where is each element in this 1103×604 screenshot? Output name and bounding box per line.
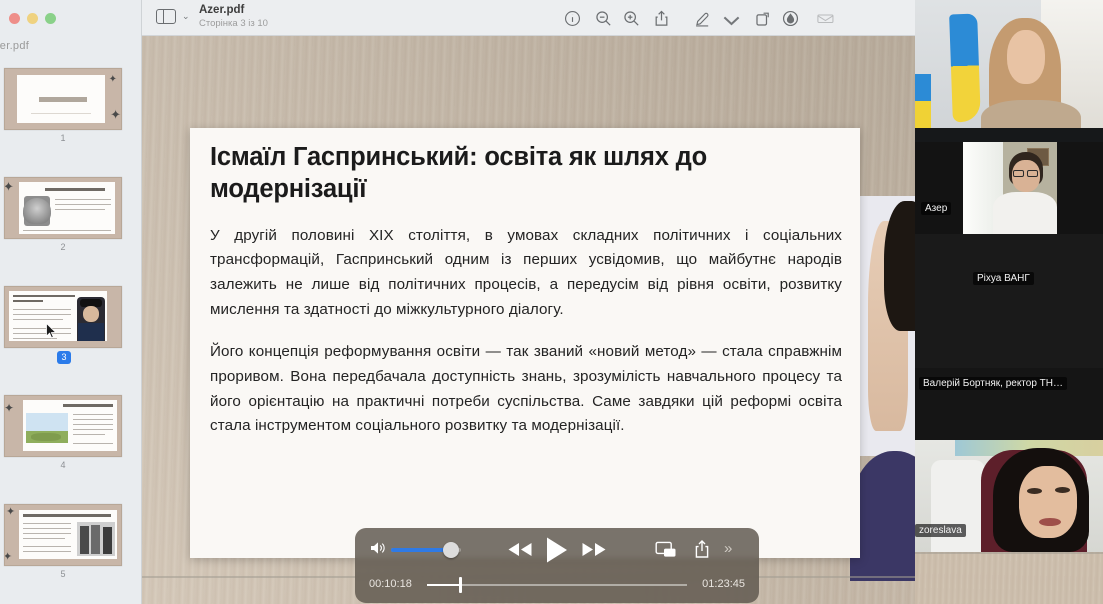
mouse-cursor-icon [46, 323, 57, 339]
picture-in-picture-icon[interactable] [655, 540, 677, 564]
participant-video-rail: Азер Ріхуа ВАНГ Валерій Бортняк, ректор … [915, 0, 1103, 604]
current-time: 00:10:18 [369, 578, 412, 590]
sidebar-filename: zer.pdf [0, 40, 142, 52]
rotate-icon[interactable] [753, 9, 772, 28]
sidebar-thumbnail-2[interactable]: ✦ 2 [4, 177, 124, 252]
fast-forward-icon[interactable] [581, 542, 607, 562]
scrubber-knob[interactable] [459, 577, 462, 593]
sidebar-thumbnail-1[interactable]: ✦ ✦ 1 [4, 68, 124, 143]
highlight-icon[interactable] [781, 9, 800, 28]
zoom-in-icon[interactable] [622, 9, 641, 28]
ukraine-flag [949, 14, 981, 123]
markup-icon[interactable] [693, 9, 715, 28]
speaker-icon[interactable] [371, 541, 387, 558]
thumbnail-image-4[interactable]: ✦ [4, 395, 122, 457]
scrubber-track[interactable] [427, 584, 687, 586]
volume-slider-fill [391, 548, 451, 552]
minimize-button[interactable] [27, 13, 38, 24]
share-icon-player[interactable] [693, 539, 711, 564]
thumbnail-page-number-5: 5 [4, 569, 122, 579]
thumbnail-image-1[interactable]: ✦ ✦ [4, 68, 122, 130]
participant-name-3: Ріхуа ВАНГ [973, 272, 1034, 285]
info-icon[interactable] [563, 9, 582, 28]
document-title: Azer.pdf [199, 4, 244, 16]
thumbnail-image-2[interactable]: ✦ [4, 177, 122, 239]
thumbnail-page-number-3: 3 [57, 351, 71, 364]
rail-desktop-bleed [915, 552, 1103, 604]
markup-chevron-down-icon[interactable] [722, 11, 734, 30]
thumbnail-sidebar: zer.pdf ✦ ✦ 1 [0, 0, 142, 604]
participant-tile-3[interactable]: Ріхуа ВАНГ [915, 234, 1103, 368]
more-icon[interactable]: » [724, 540, 732, 557]
play-icon[interactable] [544, 536, 570, 569]
participant-name-5: zoreslava [915, 524, 966, 537]
participant-tile-2[interactable]: Азер [915, 142, 1103, 234]
sidebar-chevron-down-icon[interactable]: ⌄ [182, 11, 190, 22]
thumbnail-image-3[interactable] [4, 286, 122, 348]
thumbnail-page-number-4: 4 [4, 460, 122, 470]
participant-name-2: Азер [921, 202, 951, 215]
participant-tile-1[interactable] [915, 0, 1103, 142]
screen-root: zer.pdf ✦ ✦ 1 [0, 0, 1103, 604]
ukraine-flag-small [915, 74, 931, 128]
sidebar-thumbnail-3[interactable]: 3 [4, 286, 124, 364]
slide-paragraph-2: Його концепція реформування освіти — так… [210, 340, 842, 439]
glasses-icon [1013, 170, 1024, 177]
rewind-icon[interactable] [507, 542, 533, 562]
zoom-out-icon[interactable] [594, 9, 613, 28]
participant-name-4: Валерій Бортняк, ректор ТН… [919, 377, 1067, 390]
participant-tile-5[interactable]: zoreslava [915, 440, 1103, 552]
sidebar-thumbnail-4[interactable]: ✦ 4 [4, 395, 124, 470]
video-player-controls[interactable]: » 00:10:18 01:23:45 [355, 528, 759, 603]
slide-title: Ісмаїл Гаспринський: освіта як шлях до м… [210, 142, 842, 206]
participant-tile-4[interactable]: Валерій Бортняк, ректор ТН… [915, 368, 1103, 440]
sidebar-toggle-icon[interactable] [156, 9, 178, 26]
mail-icon[interactable] [816, 9, 840, 28]
volume-slider-knob[interactable] [443, 542, 459, 558]
close-button[interactable] [9, 13, 20, 24]
thumbnail-page-number-1: 1 [4, 133, 122, 143]
sidebar-thumbnail-5[interactable]: ✦ ✦ 5 [4, 504, 124, 579]
scrubber-progress [427, 584, 459, 586]
window-traffic-lights[interactable] [9, 13, 69, 25]
slide-paragraph-1: У другій половині XIX століття, в умовах… [210, 224, 842, 323]
total-time: 01:23:45 [702, 578, 745, 590]
thumbnail-page-number-2: 2 [4, 242, 122, 252]
share-icon[interactable] [652, 9, 671, 28]
document-page-indicator: Сторінка 3 із 10 [199, 18, 268, 29]
pdf-page[interactable]: Ісмаїл Гаспринський: освіта як шлях до м… [190, 128, 860, 558]
thumbnail-image-5[interactable]: ✦ ✦ [4, 504, 122, 566]
zoom-button[interactable] [45, 13, 56, 24]
